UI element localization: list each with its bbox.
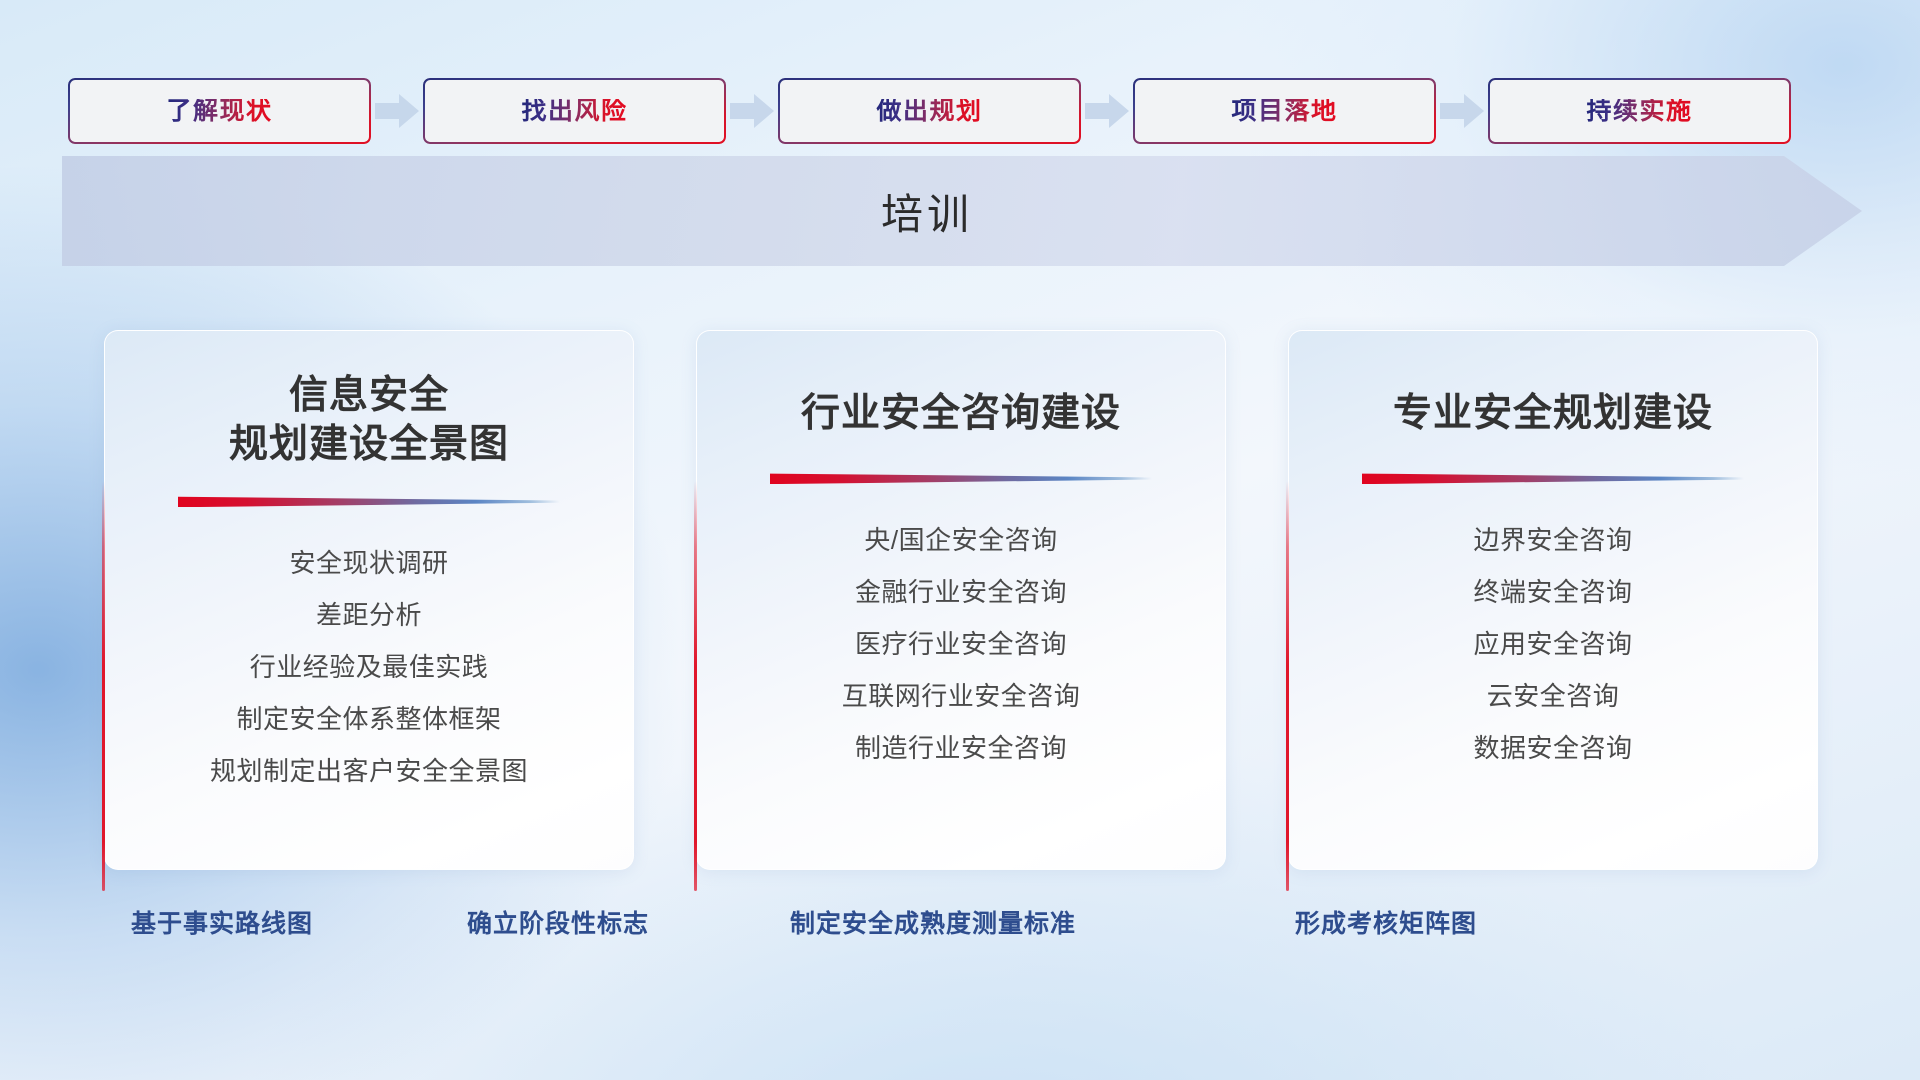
outcome-label-3: 制定安全成熟度测量标准 [790, 912, 1076, 937]
card-divider [770, 472, 1152, 484]
outcome-label-1: 基于事实路线图 [131, 912, 313, 937]
list-item: 应用安全咨询 [1319, 618, 1787, 670]
card-divider [1362, 472, 1744, 484]
list-item: 边界安全咨询 [1319, 514, 1787, 566]
step-label: 项目落地 [1231, 99, 1337, 124]
list-item: 云安全咨询 [1319, 670, 1787, 722]
step-label: 持续实施 [1586, 99, 1692, 124]
card-divider [178, 495, 560, 507]
list-item: 制定安全体系整体框架 [135, 693, 603, 745]
outcome-label-4: 形成考核矩阵图 [1295, 912, 1477, 937]
outcome-label-2: 确立阶段性标志 [467, 912, 649, 937]
process-step-row: 了解现状 找出风险 做出规划 项目落地 [68, 78, 1858, 144]
outcome-label-row: 基于事实路线图 确立阶段性标志 制定安全成熟度测量标准 形成考核矩阵图 [0, 912, 1920, 952]
step-label: 做出规划 [876, 99, 982, 124]
list-item: 安全现状调研 [135, 537, 603, 589]
list-item: 差距分析 [135, 589, 603, 641]
card-title: 专业安全规划建设 [1393, 389, 1713, 438]
chevron-right-icon [1436, 91, 1488, 131]
step-box-4[interactable]: 项目落地 [1133, 78, 1436, 144]
card-item-list: 央/国企安全咨询 金融行业安全咨询 医疗行业安全咨询 互联网行业安全咨询 制造行… [727, 514, 1195, 774]
card-title: 行业安全咨询建设 [801, 389, 1121, 438]
list-item: 规划制定出客户安全全景图 [135, 745, 603, 797]
card-item-list: 安全现状调研 差距分析 行业经验及最佳实践 制定安全体系整体框架 规划制定出客户… [135, 537, 603, 797]
chevron-right-icon [371, 91, 423, 131]
step-box-1[interactable]: 了解现状 [68, 78, 371, 144]
card-information-security-blueprint[interactable]: 信息安全 规划建设全景图 安全现状调研 差距分析 行业经验及最佳实践 制定安全体… [104, 330, 634, 870]
card-industry-security-consulting[interactable]: 行业安全咨询建设 央/国企安全咨询 金融行业安全咨询 医疗行业安全咨询 互联网行… [696, 330, 1226, 870]
step-box-3[interactable]: 做出规划 [778, 78, 1081, 144]
card-title: 信息安全 规划建设全景图 [229, 371, 509, 469]
banner-title: 培训 [62, 156, 1862, 266]
list-item: 数据安全咨询 [1319, 722, 1787, 774]
list-item: 医疗行业安全咨询 [727, 618, 1195, 670]
step-label: 了解现状 [166, 99, 272, 124]
card-item-list: 边界安全咨询 终端安全咨询 应用安全咨询 云安全咨询 数据安全咨询 [1319, 514, 1787, 774]
card-professional-security-planning[interactable]: 专业安全规划建设 边界安全咨询 终端安全咨询 应用安全咨询 云安全咨询 数据安全… [1288, 330, 1818, 870]
step-label: 找出风险 [521, 99, 627, 124]
list-item: 行业经验及最佳实践 [135, 641, 603, 693]
list-item: 终端安全咨询 [1319, 566, 1787, 618]
chevron-right-icon [1081, 91, 1133, 131]
list-item: 制造行业安全咨询 [727, 722, 1195, 774]
training-banner: 培训 [62, 156, 1862, 266]
list-item: 互联网行业安全咨询 [727, 670, 1195, 722]
step-box-5[interactable]: 持续实施 [1488, 78, 1791, 144]
card-row: 信息安全 规划建设全景图 安全现状调研 差距分析 行业经验及最佳实践 制定安全体… [104, 330, 1844, 870]
list-item: 央/国企安全咨询 [727, 514, 1195, 566]
step-box-2[interactable]: 找出风险 [423, 78, 726, 144]
list-item: 金融行业安全咨询 [727, 566, 1195, 618]
slide-canvas: 了解现状 找出风险 做出规划 项目落地 [0, 0, 1920, 1080]
chevron-right-icon [726, 91, 778, 131]
